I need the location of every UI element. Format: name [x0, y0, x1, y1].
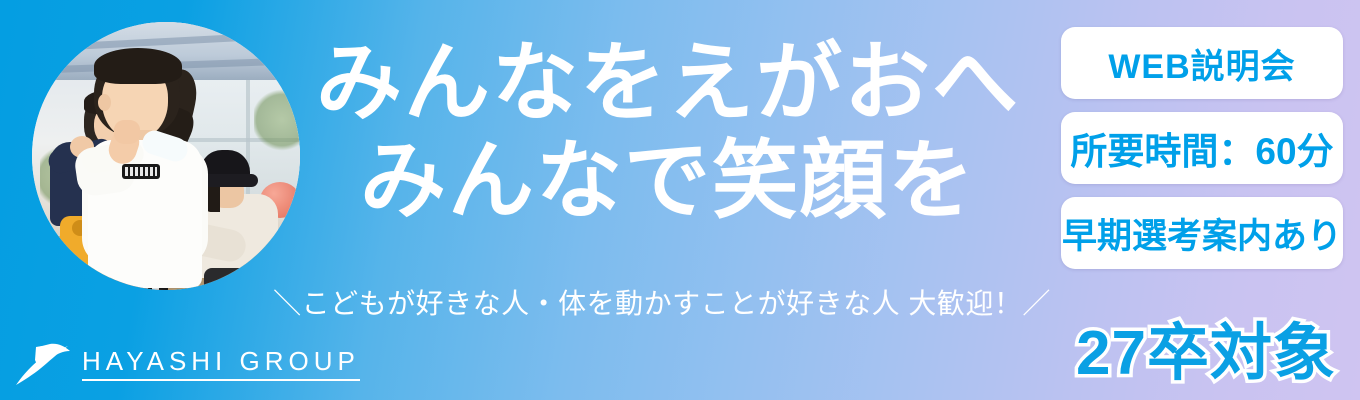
slash-right-decoration: ／ [1022, 282, 1051, 322]
headline-line-2: みんなで笑顔を [316, 132, 1056, 230]
subtitle-text: こどもが好きな人・体を動かすことが好きな人 大歓迎！ [302, 288, 1023, 319]
photo-main-girl-fringe [94, 48, 182, 84]
graduation-year-target: 27卒対象 [1076, 302, 1336, 392]
headline: みんなをえがおへ みんなで笑顔を [316, 34, 1056, 230]
badge-web-session[interactable]: WEB説明会 [1061, 27, 1343, 99]
flag-icon [14, 338, 72, 388]
slash-left-decoration: ＼ [273, 282, 302, 322]
photo-greenery [254, 88, 300, 152]
badge-duration[interactable]: 所要時間：60分 [1061, 112, 1343, 184]
subtitle: ＼こどもが好きな人・体を動かすことが好きな人 大歓迎！／ [262, 282, 1062, 322]
logo-underline [82, 379, 360, 381]
photo-circle [32, 22, 300, 290]
recruitment-banner: みんなをえがおへ みんなで笑顔を ＼こどもが好きな人・体を動かすことが好きな人 … [0, 0, 1360, 400]
photo-child-right-leg [204, 268, 256, 290]
logo-text: HAYASHI GROUP [82, 346, 360, 376]
headline-line-1: みんなをえがおへ [316, 35, 1020, 131]
photo-main-girl-ear [98, 94, 111, 111]
company-logo[interactable]: HAYASHI GROUP [14, 338, 360, 388]
badge-list: WEB説明会 所要時間：60分 早期選考案内あり [1061, 27, 1343, 269]
photo-main-girl-fist [114, 120, 140, 144]
badge-early-selection[interactable]: 早期選考案内あり [1061, 197, 1343, 269]
photo-shirt-print-text [125, 167, 157, 176]
logo-text-wrap: HAYASHI GROUP [82, 346, 360, 381]
